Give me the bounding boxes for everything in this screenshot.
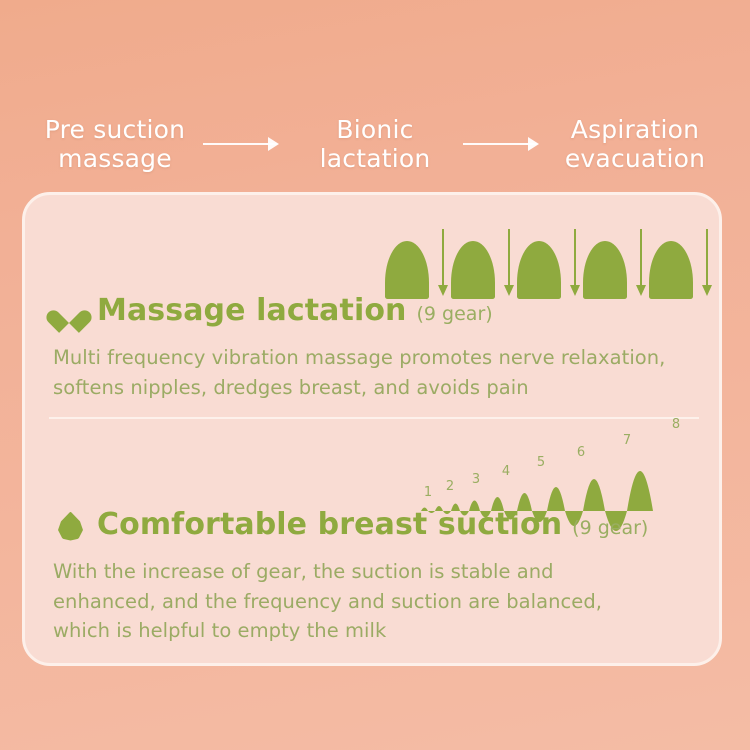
description-line: Multi frequency vibration massage promot… [53, 343, 665, 373]
flow-step-3-line2: evacuation [551, 144, 719, 174]
gear-count-label: (9 gear) [417, 303, 493, 325]
vibration-hump [517, 241, 561, 299]
arrow-down-icon [701, 229, 713, 297]
gear-label: 3 [472, 472, 480, 487]
massage-vibration-chart [385, 227, 705, 299]
arrow-down-icon [635, 229, 647, 297]
description-line: With the increase of gear, the suction i… [53, 557, 602, 587]
process-flow: Pre suction massage Bionic lactation Asp… [0, 104, 750, 184]
arrow-head [702, 285, 712, 296]
flow-step-3-line1: Aspiration [571, 115, 699, 144]
arrow-down-icon [569, 229, 581, 297]
vibration-hump [649, 241, 693, 299]
massage-description: Multi frequency vibration massage promot… [53, 343, 665, 402]
gear-label: 7 [623, 433, 631, 448]
arrow-down-icon [503, 229, 515, 297]
vibration-hump [451, 241, 495, 299]
arrow-right-icon [199, 133, 291, 155]
arrow-shaft [203, 143, 277, 145]
arrow-shaft [640, 229, 642, 287]
description-line: softens nipples, dredges breast, and avo… [53, 373, 665, 403]
gear-label: 4 [502, 464, 510, 479]
droplet-icon [53, 508, 87, 542]
arrow-shaft [508, 229, 510, 287]
heading-breast-suction: Comfortable breast suction (9 gear) [53, 507, 648, 542]
arrow-down-icon [437, 229, 449, 297]
gear-label: 1 [424, 485, 432, 500]
arrow-head [504, 285, 514, 296]
vibration-hump [385, 241, 429, 299]
gear-label: 2 [446, 479, 454, 494]
flow-step-1-line2: massage [31, 144, 199, 174]
flow-step-3: Aspiration evacuation [551, 115, 719, 174]
flow-step-1: Pre suction massage [31, 115, 199, 174]
arrow-shaft [463, 143, 537, 145]
gear-label: 8 [672, 417, 680, 432]
arrow-head [636, 285, 646, 296]
description-line: enhanced, and the frequency and suction … [53, 587, 602, 617]
suction-description: With the increase of gear, the suction i… [53, 557, 602, 646]
flow-step-1-line1: Pre suction [45, 115, 185, 144]
arrow-right-icon [459, 133, 551, 155]
arrow-head [570, 285, 580, 296]
gear-label: 5 [537, 455, 545, 470]
arrow-head [528, 137, 539, 151]
section-divider [49, 417, 699, 419]
description-line: which is helpful to empty the milk [53, 616, 602, 646]
vibration-hump [583, 241, 627, 299]
heading-massage-lactation: Massage lactation (9 gear) [53, 293, 493, 328]
gear-count-label: (9 gear) [572, 517, 648, 539]
section-title: Comfortable breast suction [97, 507, 562, 542]
flow-step-2: Bionic lactation [291, 115, 459, 174]
arrow-head [268, 137, 279, 151]
arrow-shaft [574, 229, 576, 287]
arrow-shaft [706, 229, 708, 287]
flow-step-2-line2: lactation [291, 144, 459, 174]
feature-card: Massage lactation (9 gear) Multi frequen… [22, 192, 722, 666]
arrow-shaft [442, 229, 444, 287]
flow-step-2-line1: Bionic [336, 115, 413, 144]
gear-label: 6 [577, 445, 585, 460]
heart-icon [53, 294, 87, 328]
section-title: Massage lactation [97, 293, 407, 328]
